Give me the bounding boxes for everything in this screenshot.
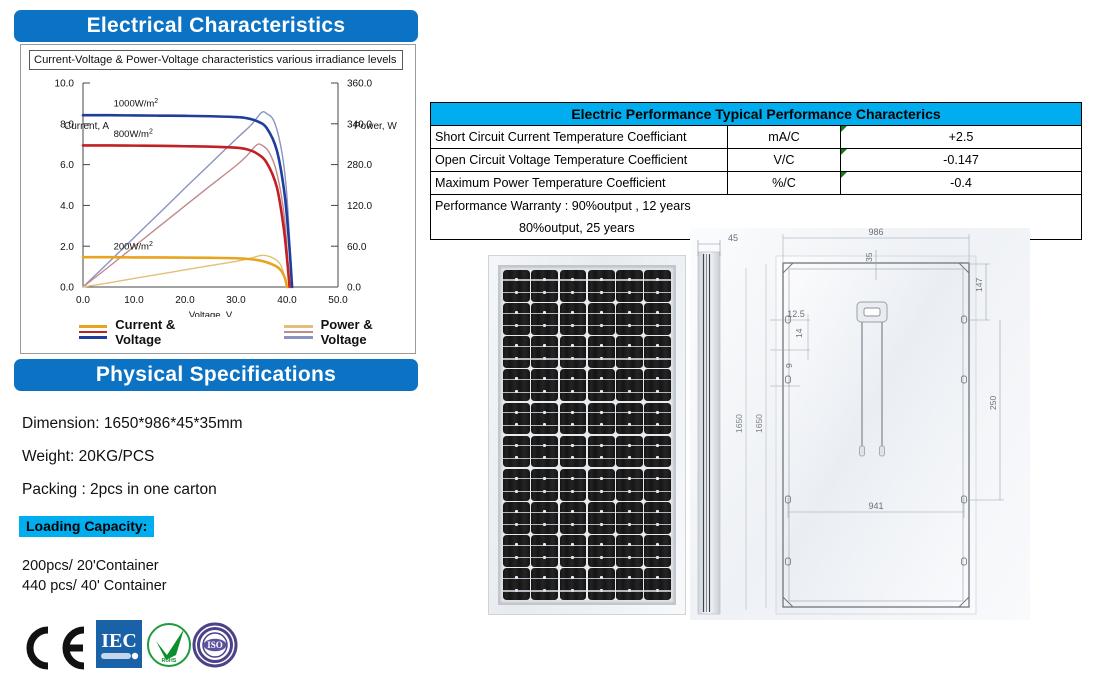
solar-cell (503, 502, 530, 534)
table-row: Open Circuit Voltage Temperature Coeffic… (431, 149, 1082, 172)
y2-tick-label: 120.0 (347, 201, 372, 212)
table-header-row: Electric Performance Typical Performance… (431, 103, 1082, 126)
solar-cell (644, 568, 671, 600)
panel-frame (498, 265, 676, 605)
solar-cell (616, 502, 643, 534)
coefficient-name: Short Circuit Current Temperature Coeffi… (431, 126, 728, 149)
solar-cell (560, 336, 587, 368)
y-tick-label: 10.0 (55, 79, 75, 90)
banner-electrical-label: Electrical Characteristics (87, 14, 346, 38)
y2-tick-label: 60.0 (347, 242, 367, 253)
solar-panel-photo (488, 255, 686, 615)
table-row: Maximum Power Temperature Coefficient%/C… (431, 172, 1082, 195)
solar-cell (588, 270, 615, 302)
chart-annotation: 800W/m2 (114, 129, 153, 141)
solar-cell (503, 535, 530, 567)
dim-14: 14 (794, 328, 804, 338)
cad-front-view: 986 35 147 250 12.5 14 9 (754, 228, 1004, 614)
loading-capacity-label: Loading Capacity: (19, 516, 154, 537)
solar-cell (616, 568, 643, 600)
dim-width-986: 986 (868, 228, 883, 237)
y-tick-label: 2.0 (60, 242, 74, 253)
solar-cell (644, 469, 671, 501)
coefficient-unit: %/C (728, 172, 841, 195)
x-tick-label: 10.0 (124, 295, 144, 306)
solar-cell (644, 369, 671, 401)
solar-cell (560, 502, 587, 534)
solar-cell (531, 568, 558, 600)
solar-cell (616, 303, 643, 335)
cad-dimension-drawing: 45 1650 (690, 228, 1030, 620)
solar-cell (588, 303, 615, 335)
iso-mark-icon: ISO (191, 622, 239, 668)
svg-text:ISO: ISO (207, 640, 223, 650)
solar-cell (644, 270, 671, 302)
solar-cell (644, 502, 671, 534)
chart-annotation: 200W/m2 (114, 241, 153, 253)
x-tick-label: 50.0 (328, 295, 348, 306)
solar-cell (588, 436, 615, 468)
dim-inset-35: 35 (864, 252, 874, 262)
coefficient-unit: V/C (728, 149, 841, 172)
solar-cell (588, 469, 615, 501)
solar-cell (588, 403, 615, 435)
warranty-row-1: Performance Warranty : 90%output , 12 ye… (431, 195, 1082, 218)
x-tick-label: 30.0 (226, 295, 246, 306)
cell-flag-icon (841, 149, 847, 155)
solar-cell (531, 336, 558, 368)
solar-cell (560, 303, 587, 335)
solar-cell (531, 469, 558, 501)
solar-cell (644, 303, 671, 335)
loading-line-20ft: 200pcs/ 20'Container (22, 558, 159, 574)
dim-250: 250 (988, 396, 998, 410)
y2-tick-label: 0.0 (347, 283, 361, 294)
spec-packing: Packing : 2pcs in one carton (22, 481, 217, 499)
dim-9: 9 (784, 363, 794, 368)
solar-cell (588, 535, 615, 567)
solar-cell (503, 469, 530, 501)
iec-mark-icon: IEC (96, 620, 142, 668)
y-tick-label: 0.0 (60, 283, 74, 294)
solar-cell (616, 403, 643, 435)
cell-flag-icon (841, 126, 847, 132)
dim-side-height: 1650 (734, 414, 744, 433)
cad-side-view: 45 1650 (698, 233, 746, 614)
banner-physical-specifications: Physical Specifications (14, 359, 418, 391)
loading-line-40ft: 440 pcs/ 40' Container (22, 578, 167, 594)
solar-cell (644, 403, 671, 435)
chart-series-current (83, 145, 290, 287)
svg-text:IEC: IEC (101, 630, 137, 652)
solar-cell (560, 270, 587, 302)
solar-cell (588, 336, 615, 368)
table-header-cell: Electric Performance Typical Performance… (431, 103, 1082, 126)
iv-pv-chart-card: Current-Voltage & Power-Voltage characte… (20, 44, 416, 354)
solar-cell (503, 369, 530, 401)
solar-cell (503, 303, 530, 335)
solar-cell (531, 403, 558, 435)
solar-cell (644, 436, 671, 468)
solar-cell (588, 568, 615, 600)
svg-text:RoHS: RoHS (162, 658, 177, 664)
solar-cell (531, 303, 558, 335)
dim-941: 941 (868, 501, 883, 511)
dim-147: 147 (974, 278, 984, 292)
solar-cell (503, 436, 530, 468)
performance-table: Electric Performance Typical Performance… (430, 102, 1082, 240)
solar-cell (616, 270, 643, 302)
x-tick-label: 0.0 (76, 295, 90, 306)
spec-weight: Weight: 20KG/PCS (22, 448, 154, 466)
solar-cell (560, 469, 587, 501)
coefficient-value: -0.4 (841, 172, 1082, 195)
coefficient-value: -0.147 (841, 149, 1082, 172)
solar-cell (588, 369, 615, 401)
ce-mark-icon (18, 626, 88, 670)
chart-plot: 0.02.04.06.08.010.00.060.0120.0280.0340.… (21, 45, 415, 317)
solar-cell (560, 403, 587, 435)
panel-cell-grid (503, 270, 671, 600)
x-tick-label: 20.0 (175, 295, 195, 306)
solar-cell (560, 436, 587, 468)
x-axis-label: Voltage, V (189, 310, 233, 317)
legend-item-1: Current & Voltage (79, 317, 206, 347)
legend-swatch (284, 325, 312, 339)
legend-label: Current & Voltage (115, 317, 206, 347)
coefficient-unit: mA/C (728, 126, 841, 149)
y2-tick-label: 360.0 (347, 79, 372, 90)
y-tick-label: 6.0 (60, 160, 74, 171)
solar-cell (531, 270, 558, 302)
solar-cell (644, 535, 671, 567)
table-row: Short Circuit Current Temperature Coeffi… (431, 126, 1082, 149)
legend-swatch (79, 325, 107, 339)
solar-cell (616, 535, 643, 567)
solar-cell (531, 436, 558, 468)
y2-tick-label: 280.0 (347, 160, 372, 171)
banner-physical-label: Physical Specifications (96, 363, 336, 387)
solar-cell (531, 502, 558, 534)
solar-cell (560, 369, 587, 401)
coefficient-name: Open Circuit Voltage Temperature Coeffic… (431, 149, 728, 172)
dim-12-5: 12.5 (787, 309, 805, 319)
spec-dimension: Dimension: 1650*986*45*35mm (22, 415, 243, 433)
chart-legend: Current & VoltagePower & Voltage (31, 317, 405, 347)
solar-cell (560, 568, 587, 600)
solar-cell (588, 502, 615, 534)
y2-tick-label: 340.0 (347, 119, 372, 130)
solar-cell (616, 469, 643, 501)
banner-electrical-characteristics: Electrical Characteristics (14, 10, 418, 42)
legend-label: Power & Voltage (321, 317, 405, 347)
chart-annotation: 1000W/m2 (114, 98, 159, 110)
solar-cell (644, 336, 671, 368)
solar-cell (503, 568, 530, 600)
solar-cell (616, 369, 643, 401)
chart-series-power (83, 144, 290, 287)
coefficient-name: Maximum Power Temperature Coefficient (431, 172, 728, 195)
cad-svg: 45 1650 (690, 228, 1030, 620)
dim-front-height: 1650 (754, 414, 764, 433)
solar-cell (503, 403, 530, 435)
solar-cell (531, 535, 558, 567)
warranty-line-1: Performance Warranty : 90%output , 12 ye… (431, 195, 1082, 218)
solar-cell (616, 336, 643, 368)
solar-cell (503, 270, 530, 302)
solar-cell (503, 336, 530, 368)
solar-cell (616, 436, 643, 468)
coefficient-value: +2.5 (841, 126, 1082, 149)
legend-item-2: Power & Voltage (284, 317, 405, 347)
x-tick-label: 40.0 (277, 295, 297, 306)
rohs-check-icon: RoHS (146, 622, 192, 668)
dim-side-thickness: 45 (728, 233, 738, 243)
certification-logos: IEC RoHS ISO (18, 620, 238, 676)
solar-cell (531, 369, 558, 401)
cell-flag-icon (841, 172, 847, 178)
datasheet-page: Electrical Characteristics Current-Volta… (0, 0, 1096, 681)
solar-cell (560, 535, 587, 567)
y-tick-label: 8.0 (60, 119, 74, 130)
y-tick-label: 4.0 (60, 201, 74, 212)
